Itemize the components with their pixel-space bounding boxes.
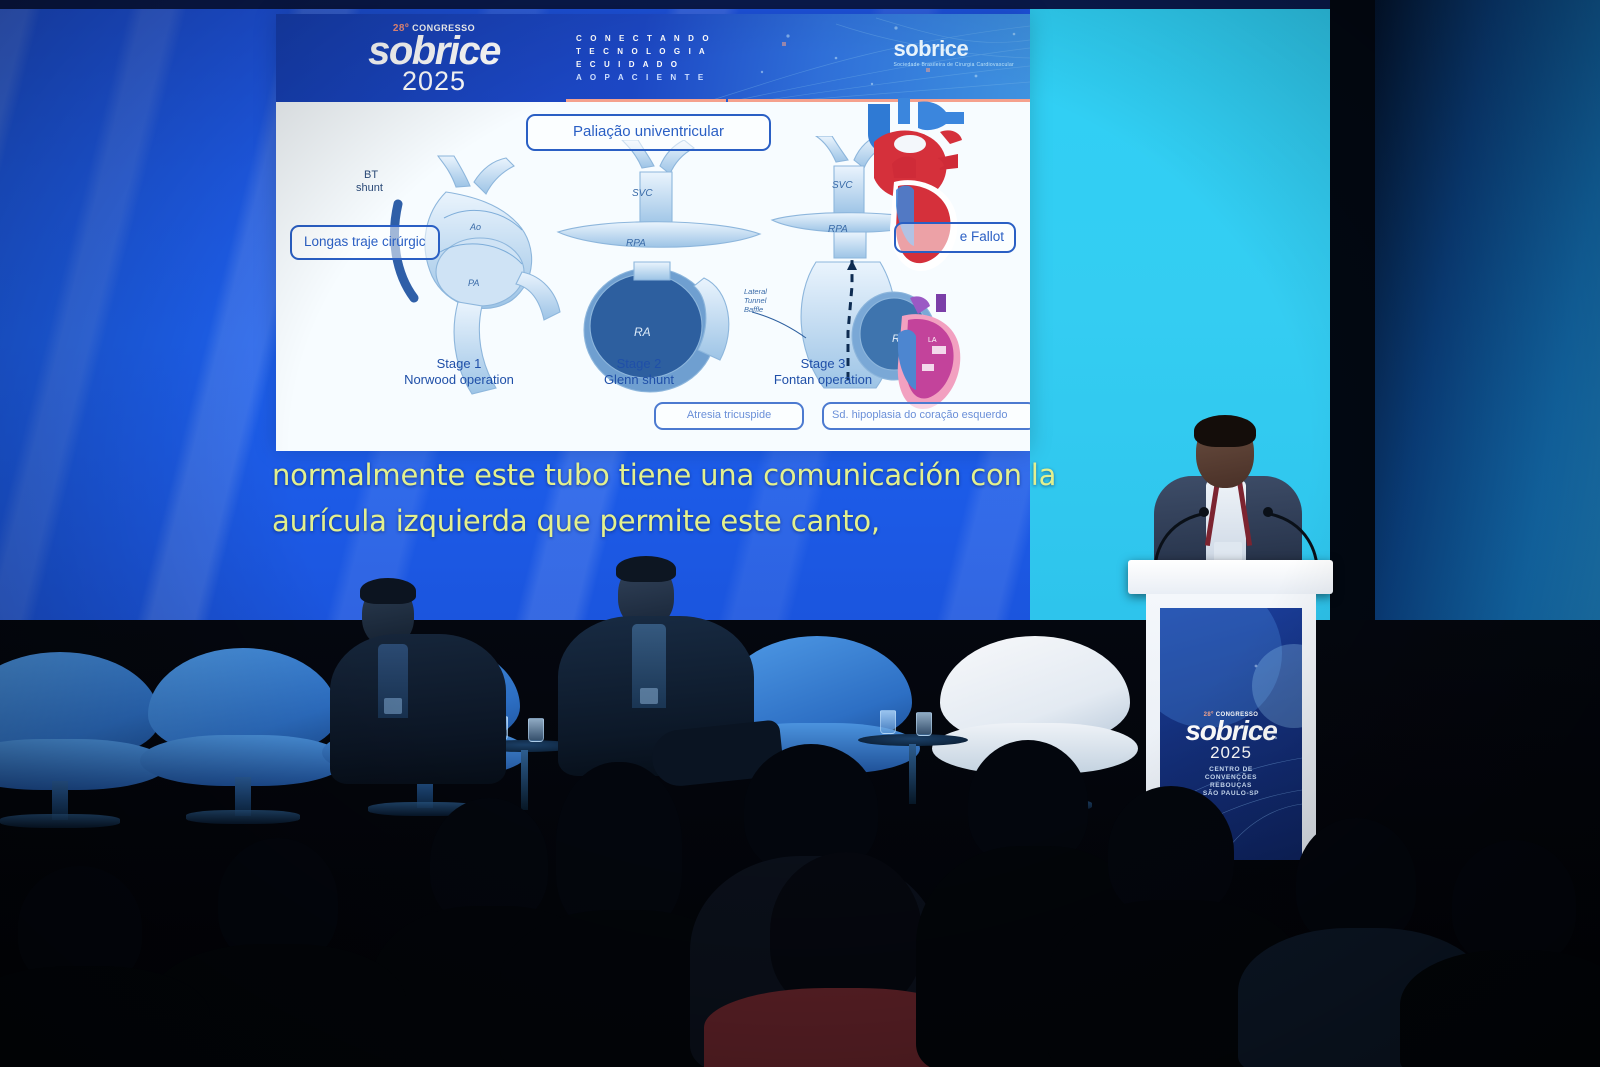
svg-text:LA: LA [928,337,937,344]
water-glass-2 [528,718,544,742]
water-glass-3 [880,710,896,734]
audience-head-6 [1108,786,1234,918]
water-glass-4 [916,712,932,736]
svg-text:RA: RA [634,325,651,339]
panelist-left [330,578,510,798]
tagline-line-1: C O N E C T A N D O [576,32,712,45]
audience-head-8 [1452,840,1576,966]
podium-year: 2025 [1160,743,1302,763]
stage-2-number: Stage 2 [554,356,724,372]
svg-text:BT: BT [364,169,378,181]
brand-year: 2025 [324,68,544,95]
heart-illustration-fallot [884,154,970,278]
conference-photo: 28º CONGRESSO sobrice 2025 C O N E C T A… [0,0,1600,1067]
stage-caption-2: Stage 2 Glenn shunt [554,356,724,388]
panelist-left-badge [384,698,402,714]
svg-text:RPA: RPA [626,238,646,249]
stage-chair-1 [0,652,160,802]
stage-3-name: Fontan operation [738,372,908,388]
tagline-line-4: A O P A C I E N T E [576,71,712,84]
heart-illustration-hlhs: LA [888,294,974,414]
panelist-right [556,558,756,808]
header-logo-word: sobrice [893,36,1014,62]
podium-logo: 28º CONGRESSO sobrice 2025 CENTRO DE CON… [1160,712,1302,798]
audience-shoulders-10 [0,966,210,1067]
right-box-fallot: e Fallot [894,222,1016,253]
header-logo-sub: Sociedade Brasileira de Cirurgia Cardiov… [893,62,1014,68]
stage-1-name: Norwood operation [374,372,544,388]
bottom-box-atresia-tricuspide: Atresia tricuspide [654,402,804,430]
screen-top-bar [0,0,1380,9]
svg-text:Baffle: Baffle [744,305,763,314]
stage-1-number: Stage 1 [374,356,544,372]
svg-text:SVC: SVC [832,180,853,191]
svg-text:Tunnel: Tunnel [744,296,767,305]
slide-body: BT shunt Ao PA SVC RPA RA [276,102,1030,451]
slide-brand-logo: 28º CONGRESSO sobrice 2025 [324,23,544,95]
slide-header: 28º CONGRESSO sobrice 2025 C O N E C T A… [276,14,1030,102]
caption-line-1: normalmente este tubo tiene una comunica… [272,452,1072,498]
svg-text:RPA: RPA [828,224,848,235]
stage-caption-1: Stage 1 Norwood operation [374,356,544,388]
title-box-paliacao: Paliação univentricular [526,114,771,151]
stage-2-name: Glenn shunt [554,372,724,388]
podium-venue-line-2: CONVENÇÕES [1160,774,1302,782]
podium-ledge [1128,560,1333,594]
stage-chair-2 [148,648,338,798]
brand-wordmark: sobrice [324,32,544,70]
podium-venue-line-1: CENTRO DE [1160,766,1302,774]
bottom-box-hipoplasia: Sd. hipoplasia do coração esquerdo [822,402,1030,430]
svg-text:Ao: Ao [469,222,481,232]
slide-header-sobrice-logo: sobrice Sociedade Brasileira de Cirurgia… [893,36,1014,68]
slide-tagline: C O N E C T A N D O T E C N O L O G I A … [576,32,712,84]
tagline-line-2: T E C N O L O G I A [576,45,712,58]
svg-text:PA: PA [468,278,479,288]
left-box-longas-trajetoria: Longas traje cirúrgic [290,225,440,260]
svg-text:SVC: SVC [632,188,653,199]
subtitle-caption: normalmente este tubo tiene una comunica… [272,452,1072,544]
stage-3-number: Stage 3 [738,356,908,372]
audience-head-7 [1296,818,1416,946]
caption-line-2: aurícula izquierda que permite este cant… [272,498,1072,544]
audience-head-2 [556,762,682,932]
tagline-line-3: E C U I D A D O [576,58,712,71]
panelist-right-badge [640,688,658,704]
side-wall-lighting [1375,0,1600,640]
svg-text:Lateral: Lateral [744,287,767,296]
podium-wordmark: sobrice [1160,718,1302,743]
audience-shoulders-8 [1400,950,1600,1067]
stage-caption-3: Stage 3 Fontan operation [738,356,908,388]
svg-text:shunt: shunt [356,182,383,194]
presentation-slide: 28º CONGRESSO sobrice 2025 C O N E C T A… [276,14,1030,451]
